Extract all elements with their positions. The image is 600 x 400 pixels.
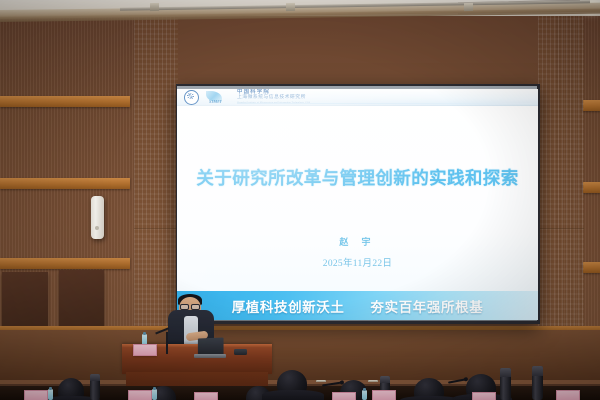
banner-slogan-right: 夯实百年强所根基 <box>371 296 484 316</box>
thermos-flask <box>532 366 543 400</box>
simit-wordmark: SIMIT <box>209 99 222 104</box>
laptop <box>198 337 224 355</box>
thermos-flask <box>500 368 511 400</box>
slide-header-bar: SIMIT 中国科学院 上海微系统与信息技术研究所 Shanghai Insti… <box>177 89 538 106</box>
wall-trim-band <box>583 262 600 273</box>
slide-footer-banner: 厚植科技创新沃土 夯实百年强所根基 <box>177 291 538 320</box>
wall-trim-band <box>0 96 130 107</box>
audience-shoulders <box>262 390 324 400</box>
acoustic-panel <box>59 270 104 332</box>
name-card <box>24 390 48 400</box>
name-card <box>372 390 396 400</box>
presentation-slide[interactable]: SIMIT 中国科学院 上海微系统与信息技术研究所 Shanghai Insti… <box>177 89 538 320</box>
water-bottle <box>152 389 157 400</box>
slide-author: 赵 宇 <box>177 235 538 248</box>
name-card <box>332 392 356 400</box>
rail-clip <box>150 3 159 11</box>
name-card <box>556 390 580 400</box>
name-card <box>128 390 152 400</box>
wall-trim-band <box>0 178 130 189</box>
institute-cn-line2: 上海微系统与信息技术研究所 <box>237 96 310 101</box>
podium-microphone-stand <box>166 332 168 354</box>
laptop-base <box>194 354 226 358</box>
water-bottle <box>48 389 53 400</box>
name-card <box>472 392 496 400</box>
name-card <box>133 344 157 356</box>
wall-trim-band <box>0 258 130 269</box>
rail-clip <box>286 3 295 11</box>
wall-speaker <box>91 196 104 239</box>
rail-clip <box>464 3 473 11</box>
slide-title: 关于研究所改革与管理创新的实践和探索 <box>177 165 538 190</box>
header-divider <box>237 103 532 104</box>
water-bottle <box>362 390 367 400</box>
name-card <box>194 392 218 400</box>
mobile-phone <box>234 349 247 355</box>
wall-trim-band <box>583 100 600 111</box>
cas-emblem-icon <box>184 90 199 105</box>
conference-hall-photo: SIMIT 中国科学院 上海微系统与信息技术研究所 Shanghai Insti… <box>0 0 600 400</box>
banner-slogan-left: 厚植科技创新沃土 <box>232 296 345 316</box>
wall-trim-band <box>583 182 600 193</box>
acoustic-panel <box>2 272 48 334</box>
thermos-flask <box>90 374 100 400</box>
glasses-icon <box>180 304 200 308</box>
audience-shoulders <box>400 396 460 400</box>
simit-wave-icon: SIMIT <box>205 91 231 104</box>
slide-date: 2025年11月22日 <box>177 255 538 269</box>
